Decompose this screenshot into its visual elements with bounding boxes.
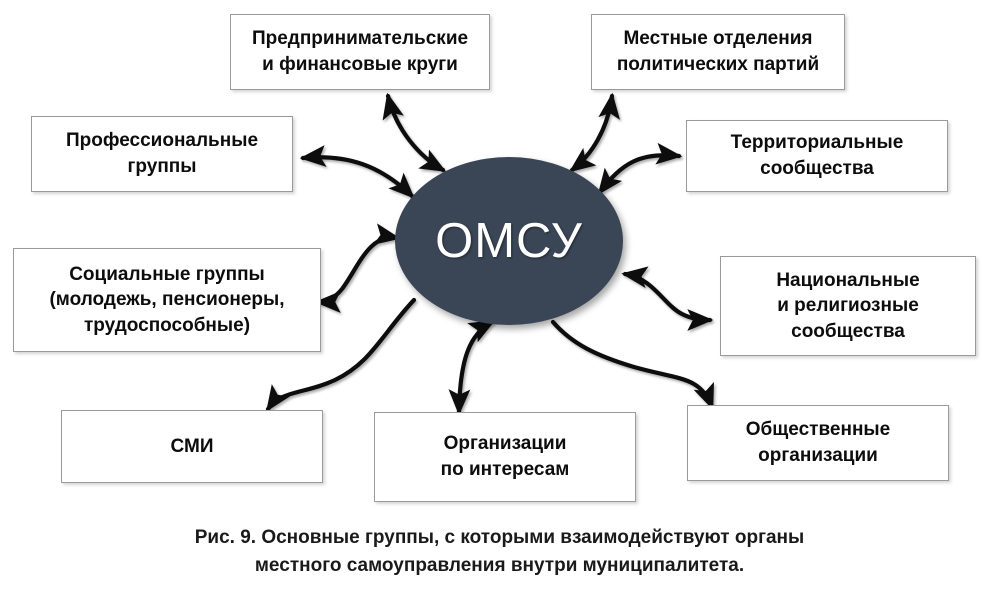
caption-line-2: местного самоуправления внутри муниципал… xyxy=(0,552,999,580)
node-line-2: по интересам xyxy=(441,459,570,480)
node-line-1: Общественные xyxy=(746,419,890,440)
node-professional-groups[interactable]: Профессиональные группы xyxy=(31,116,293,192)
arrow-center-to-territorial-communities xyxy=(600,155,679,192)
node-social-groups[interactable]: Социальные группы (молодежь, пенсионеры,… xyxy=(13,248,321,352)
node-line-2: политических партий xyxy=(617,54,819,75)
node-line-1: Социальные группы xyxy=(69,264,265,285)
node-line-2: группы xyxy=(127,156,196,177)
node-line-2: (молодежь, пенсионеры, xyxy=(49,289,284,310)
arrow-center-to-interest-organizations xyxy=(459,322,492,412)
figure-caption: Рис. 9. Основные группы, с которыми взаи… xyxy=(0,524,999,579)
center-node-label: ОМСУ xyxy=(435,213,583,269)
node-national-religious-communities[interactable]: Национальные и религиозные сообщества xyxy=(720,256,976,356)
node-public-organizations-label: Общественные организации xyxy=(688,417,948,468)
arrow-center-to-public-organizations xyxy=(553,322,712,407)
node-line-1: Профессиональные xyxy=(66,130,258,151)
node-line-1: Местные отделения xyxy=(623,28,812,49)
arrow-center-to-local-party-branches xyxy=(572,96,612,170)
node-professional-groups-label: Профессиональные группы xyxy=(32,128,292,179)
arrow-center-to-national-religious-communities xyxy=(625,274,710,320)
node-business-financial-circles-label: Предпринимательские и финансовые круги xyxy=(231,26,489,77)
arrow-center-to-business-financial-circles xyxy=(388,96,443,170)
node-local-party-branches[interactable]: Местные отделения политических партий xyxy=(591,14,845,90)
node-line-1: Национальные xyxy=(776,270,919,291)
node-line-1: Организации xyxy=(444,433,567,454)
node-line-2: организации xyxy=(758,445,878,466)
node-mass-media-label: СМИ xyxy=(62,434,322,460)
node-business-financial-circles[interactable]: Предпринимательские и финансовые круги xyxy=(230,14,490,90)
node-line-2: и финансовые круги xyxy=(262,54,458,75)
center-node-omsu[interactable]: ОМСУ xyxy=(395,157,623,325)
node-territorial-communities-label: Территориальные сообщества xyxy=(687,130,947,181)
node-interest-organizations-label: Организации по интересам xyxy=(375,431,635,482)
node-territorial-communities[interactable]: Территориальные сообщества xyxy=(686,120,948,192)
node-local-party-branches-label: Местные отделения политических партий xyxy=(592,26,844,77)
diagram-canvas: Предпринимательские и финансовые круги М… xyxy=(0,0,999,593)
node-line-1: Территориальные xyxy=(731,132,904,153)
node-line-2: и религиозные xyxy=(777,295,919,316)
node-social-groups-label: Социальные группы (молодежь, пенсионеры,… xyxy=(14,262,320,339)
node-line-2: сообщества xyxy=(760,158,874,179)
node-line-3: трудоспособные) xyxy=(84,315,250,336)
node-interest-organizations[interactable]: Организации по интересам xyxy=(374,412,636,502)
arrow-center-to-social-groups xyxy=(318,238,397,302)
node-line-3: сообщества xyxy=(791,321,905,342)
node-national-religious-communities-label: Национальные и религиозные сообщества xyxy=(721,268,975,345)
caption-line-1: Рис. 9. Основные группы, с которыми взаи… xyxy=(0,524,999,552)
node-public-organizations[interactable]: Общественные организации xyxy=(687,405,949,481)
arrow-center-to-professional-groups xyxy=(303,157,412,196)
node-line-1: Предпринимательские xyxy=(252,28,468,49)
node-mass-media[interactable]: СМИ xyxy=(61,410,323,483)
node-line-1: СМИ xyxy=(171,436,214,457)
